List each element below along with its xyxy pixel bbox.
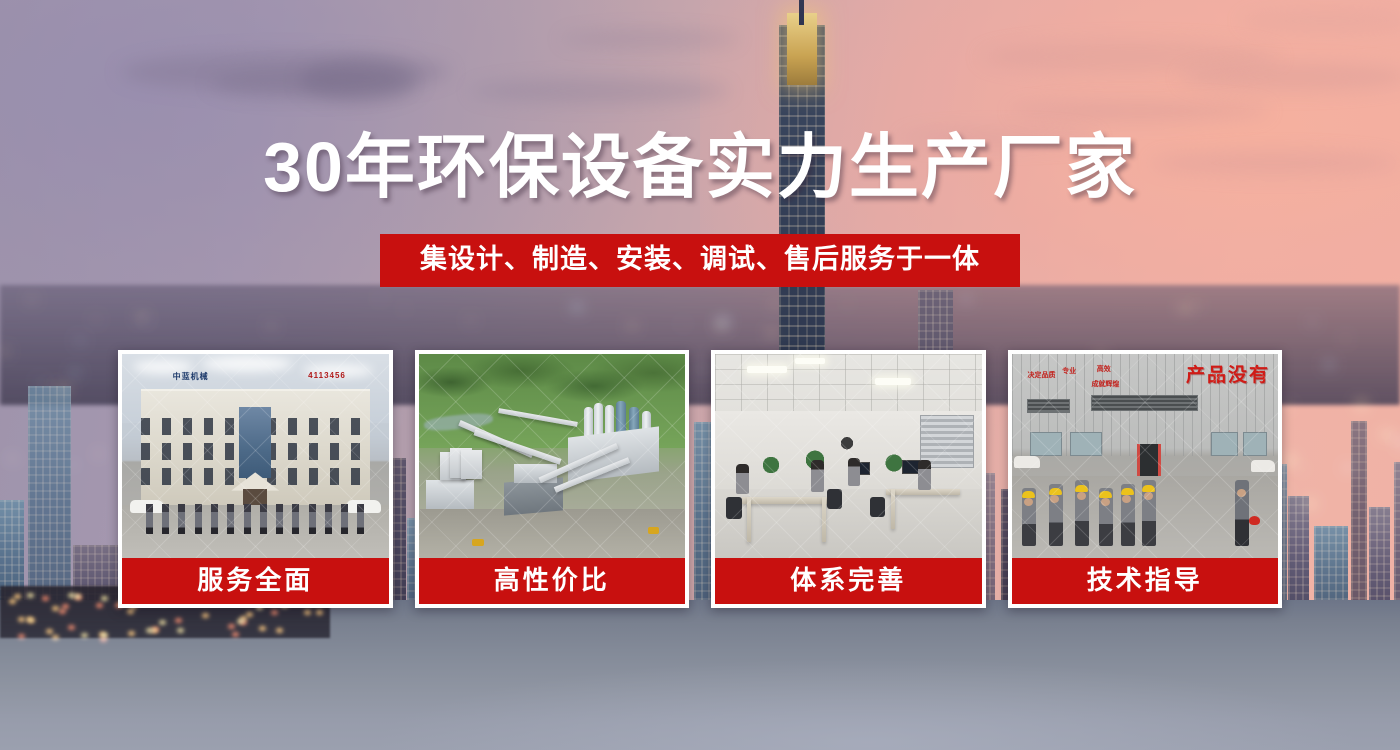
building-light <box>1299 467 1305 471</box>
shore-light <box>127 609 134 614</box>
shore-light <box>101 596 108 601</box>
shore-light <box>27 593 34 598</box>
feature-card[interactable]: 产品没有 决定品质 专业 高效 成就辉煌 <box>1008 350 1283 608</box>
building-light <box>1381 431 1391 438</box>
card-photo-office-interior <box>715 354 982 558</box>
building-light <box>9 456 15 460</box>
building-light <box>1396 440 1400 448</box>
card-caption: 体系完善 <box>715 558 982 604</box>
shore-light <box>18 617 25 622</box>
shore-light <box>128 631 135 636</box>
factory-sign-label: 产品没有 <box>1186 360 1270 387</box>
feature-card[interactable]: 中蓝机械 4113456 服务全面 <box>118 350 393 608</box>
staff-figure <box>357 504 364 534</box>
building-light <box>1305 500 1316 508</box>
building-light <box>58 385 70 393</box>
building-light <box>628 323 637 329</box>
card-photo-workers-factory: 产品没有 决定品质 专业 高效 成就辉煌 <box>1012 354 1279 558</box>
shore-light <box>81 633 88 638</box>
shore-light <box>42 596 49 601</box>
building-light <box>268 324 275 329</box>
hard-hat-icon <box>1099 491 1112 498</box>
shore-light <box>68 625 75 630</box>
staff-figure <box>227 504 234 534</box>
skyline-building <box>1351 421 1367 625</box>
shore-light <box>177 628 184 633</box>
building-light <box>1343 465 1353 472</box>
building-phone-label: 4113456 <box>308 371 346 380</box>
building-light <box>768 330 776 336</box>
card-photo-office-building: 中蓝机械 4113456 <box>122 354 389 558</box>
worker-head <box>1024 498 1033 506</box>
shore-light <box>28 618 35 623</box>
building-light <box>1284 405 1290 409</box>
supervisor-head <box>1237 489 1246 497</box>
building-light <box>96 452 101 455</box>
shore-light <box>18 634 25 639</box>
staff-figure <box>309 504 316 534</box>
hard-hat-icon <box>1075 485 1088 492</box>
building-light <box>71 463 76 467</box>
shore-light <box>96 603 103 608</box>
red-helmet-icon <box>1249 516 1260 525</box>
staff-figure <box>195 504 202 534</box>
shore-light <box>75 595 82 600</box>
shore-light <box>232 632 239 637</box>
shore-light <box>62 604 69 609</box>
building-light <box>49 385 53 388</box>
staff-figure <box>292 504 299 534</box>
factory-slogan-2: 专业 <box>1062 368 1076 377</box>
shore-light <box>152 627 159 632</box>
feature-card[interactable]: 体系完善 <box>711 350 986 608</box>
shore-light <box>59 609 66 614</box>
worker-head <box>1144 492 1153 500</box>
building-light <box>772 303 778 307</box>
hard-hat-icon <box>1022 491 1035 498</box>
building-light <box>29 297 36 302</box>
shore-light <box>9 599 16 604</box>
building-light <box>378 297 382 300</box>
staff-figure <box>260 504 267 534</box>
feature-card[interactable]: 高性价比 <box>415 350 690 608</box>
card-photo-plant-aerial <box>419 354 686 558</box>
building-light <box>145 318 150 322</box>
factory-slogan-4: 成就辉煌 <box>1091 381 1119 390</box>
subtitle-banner: 集设计、制造、安装、调试、售后服务于一体 <box>380 234 1020 287</box>
building-sign-label: 中蓝机械 <box>173 371 209 382</box>
building-light <box>1284 456 1296 464</box>
card-caption: 技术指导 <box>1012 558 1279 604</box>
shore-light <box>14 594 21 599</box>
staff-figure <box>276 504 283 534</box>
worker-head <box>1077 492 1086 500</box>
shore-light <box>159 620 166 625</box>
shore-light <box>52 635 59 640</box>
building-light <box>1324 361 1333 367</box>
staff-figure <box>211 504 218 534</box>
worker-head <box>1101 498 1110 506</box>
hard-hat-icon <box>1142 485 1155 492</box>
staff-figure <box>178 504 185 534</box>
building-light <box>38 380 41 382</box>
staff-figure <box>325 504 332 534</box>
hard-hat-icon <box>1049 488 1062 495</box>
shore-light <box>175 618 182 623</box>
shore-light <box>237 619 244 624</box>
building-light <box>1283 491 1289 495</box>
promo-banner: 30年环保设备实力生产厂家 集设计、制造、安装、调试、售后服务于一体 <box>0 0 1400 750</box>
shore-light <box>228 624 235 629</box>
feature-card-row: 中蓝机械 4113456 服务全面 <box>118 350 1282 608</box>
hard-hat-icon <box>1121 488 1134 495</box>
shore-light <box>304 610 311 615</box>
factory-slogan-1: 决定品质 <box>1027 372 1055 381</box>
shore-light <box>100 637 107 642</box>
card-caption: 高性价比 <box>419 558 686 604</box>
staff-figure <box>146 504 153 534</box>
building-light <box>718 318 728 325</box>
page-title: 30年环保设备实力生产厂家 <box>0 132 1400 202</box>
building-light <box>71 370 79 375</box>
staff-figure <box>162 504 169 534</box>
shore-light <box>316 610 323 615</box>
shore-light <box>276 628 283 633</box>
building-light <box>962 297 970 303</box>
card-caption: 服务全面 <box>122 558 389 604</box>
building-light <box>1 349 8 354</box>
building-light <box>1392 435 1397 439</box>
building-light <box>1179 305 1190 312</box>
building-light <box>1356 401 1367 409</box>
factory-slogan-3: 高效 <box>1097 366 1111 375</box>
shore-light <box>259 626 266 631</box>
staff-figure <box>244 504 251 534</box>
shore-light <box>46 629 53 634</box>
staff-figure <box>341 504 348 534</box>
shore-light <box>202 613 209 618</box>
shore-light <box>271 610 278 615</box>
